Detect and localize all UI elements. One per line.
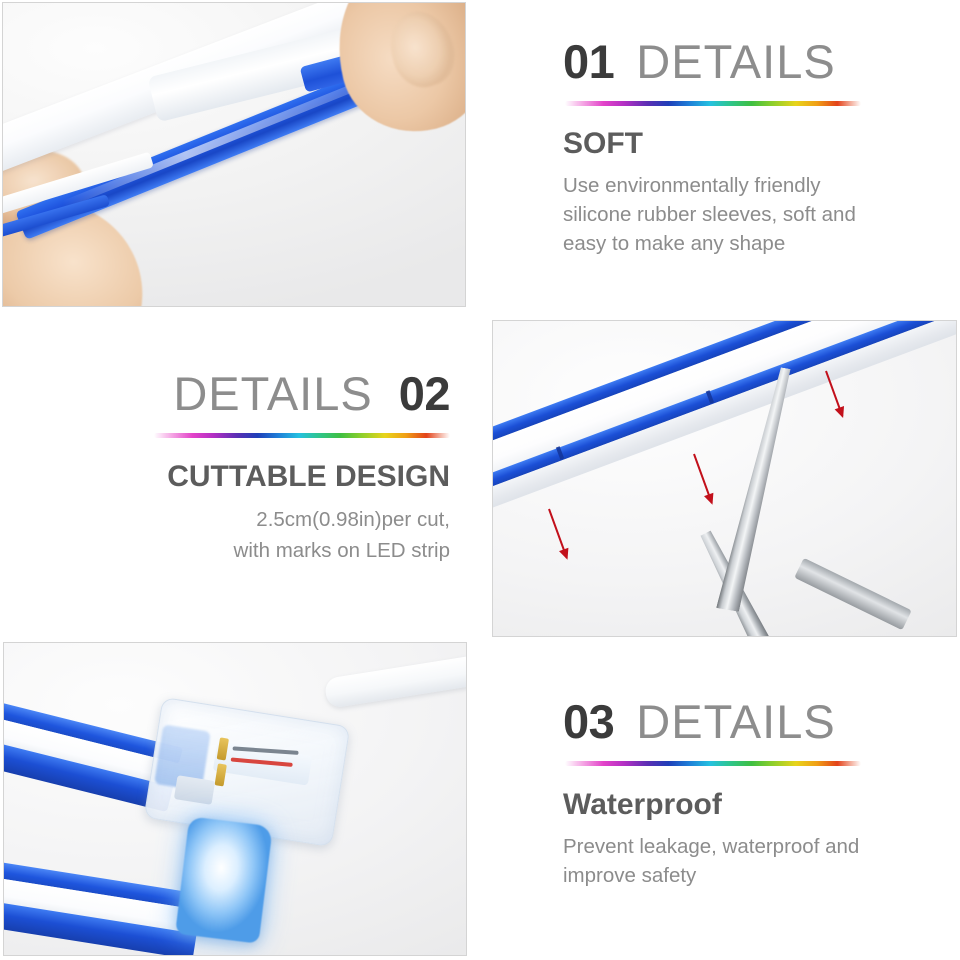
- waterproof-end-cap: [175, 816, 273, 943]
- section-title-row-02: DETAILS 02: [30, 370, 450, 417]
- section-label-02: DETAILS: [173, 370, 372, 417]
- section-number-03: 03: [563, 698, 614, 745]
- section-heading-02: CUTTABLE DESIGN: [30, 460, 450, 495]
- section-label-03: DETAILS: [636, 698, 835, 745]
- infographic-page: 01 DETAILS SOFT Use environmentally frie…: [0, 0, 960, 960]
- section-body-02-line2: with marks on LED strip: [30, 536, 450, 565]
- connector-notch: [174, 775, 215, 805]
- rainbow-divider-02: [154, 433, 450, 438]
- section-heading-01: SOFT: [563, 127, 953, 162]
- section-title-row-03: 03 DETAILS: [563, 698, 953, 745]
- rainbow-divider-01: [565, 101, 861, 106]
- photo-panel-soft: [2, 2, 466, 307]
- section-block-waterproof: 03 DETAILS Waterproof Prevent leakage, w…: [563, 698, 953, 890]
- rainbow-divider-03: [565, 761, 861, 766]
- photo-soft-image: [3, 3, 465, 306]
- section-body-01: Use environmentally friendly silicone ru…: [563, 171, 893, 258]
- photo-waterproof-image: [4, 643, 466, 955]
- section-number-01: 01: [563, 38, 614, 85]
- connector-pin-2: [215, 763, 227, 786]
- section-title-row-01: 01 DETAILS: [563, 38, 953, 85]
- section-body-03: Prevent leakage, waterproof and improve …: [563, 832, 903, 890]
- section-block-soft: 01 DETAILS SOFT Use environmentally frie…: [563, 38, 953, 258]
- photo-panel-waterproof: [3, 642, 467, 956]
- photo-cuttable-image: [493, 321, 956, 636]
- section-body-02-line1: 2.5cm(0.98in)per cut,: [30, 505, 450, 534]
- section-heading-03: Waterproof: [563, 788, 953, 823]
- photo-panel-cuttable: [492, 320, 957, 637]
- section-number-02: 02: [399, 370, 450, 417]
- section-label-01: DETAILS: [636, 38, 835, 85]
- section-block-cuttable: DETAILS 02 CUTTABLE DESIGN 2.5cm(0.98in)…: [30, 370, 450, 565]
